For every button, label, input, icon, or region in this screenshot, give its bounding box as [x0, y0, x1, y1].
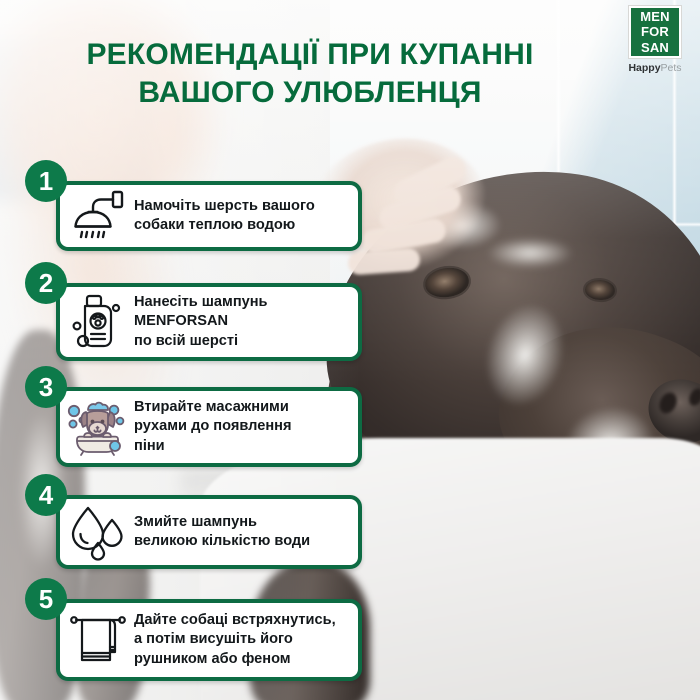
step-text-line: по всій шерсті	[134, 332, 268, 352]
logo-word-san: SAN	[635, 41, 675, 55]
brand-logo: MEN FOR SAN HappyPets	[618, 6, 692, 74]
step-text-line: рушником або феном	[134, 650, 336, 670]
step-text-line: рухами до появлення	[134, 417, 291, 437]
logo-tagline: HappyPets	[618, 62, 692, 74]
step-text-line: Дайте собаці встряхнутись,	[134, 611, 336, 631]
step-text-line: Втирайте масажними	[134, 398, 291, 418]
logo-mark: MEN FOR SAN	[629, 6, 681, 58]
logo-word-for: FOR	[635, 25, 675, 39]
step-card: Намочіть шерсть вашого собаки теплою вод…	[56, 181, 362, 251]
step-text-line: піни	[134, 437, 291, 457]
step-text: Дайте собаці встряхнутись, а потім висуш…	[132, 611, 336, 670]
step-card: Нанесіть шампунь MENFORSAN по всій шерст…	[56, 283, 362, 361]
step-text: Втирайте масажними рухами до появлення п…	[132, 398, 291, 457]
infographic-poster: MEN FOR SAN HappyPets РЕКОМЕНДАЦІЇ ПРИ К…	[0, 0, 700, 700]
step-text-line: Намочіть шерсть вашого	[134, 197, 315, 217]
logo-word-men: MEN	[635, 10, 675, 24]
logo-tagline-pets: Pets	[661, 62, 682, 74]
step-text-line: MENFORSAN	[134, 312, 268, 332]
step-text: Нанесіть шампунь MENFORSAN по всій шерст…	[132, 293, 268, 352]
step-number-badge: 3	[25, 366, 67, 408]
shower-head-icon	[64, 185, 132, 247]
step-text: Намочіть шерсть вашого собаки теплою вод…	[132, 197, 315, 236]
step-text-line: великою кількістю води	[134, 532, 310, 552]
water-drops-icon	[64, 501, 132, 563]
step-number-badge: 5	[25, 578, 67, 620]
step-number-badge: 4	[25, 474, 67, 516]
step-card: Дайте собаці встряхнутись, а потім висуш…	[56, 599, 362, 681]
steps-list: 1 Намочіть шерсть вашого собаки теплою в…	[0, 0, 700, 700]
shampoo-bottle-icon	[64, 291, 132, 353]
towel-rail-icon	[64, 609, 132, 671]
step-text-line: собаки теплою водою	[134, 216, 315, 236]
step-text-line: Змийте шампунь	[134, 513, 310, 533]
step-text: Змийте шампунь великою кількістю води	[132, 513, 310, 552]
step-number-badge: 2	[25, 262, 67, 304]
step-text-line: а потім висушіть його	[134, 630, 336, 650]
step-text-line: Нанесіть шампунь	[134, 293, 268, 313]
step-number-badge: 1	[25, 160, 67, 202]
logo-tagline-happy: Happy	[628, 62, 660, 74]
dog-in-bathtub-icon	[64, 396, 132, 458]
step-card: Втирайте масажними рухами до появлення п…	[56, 387, 362, 467]
step-card: Змийте шампунь великою кількістю води	[56, 495, 362, 569]
